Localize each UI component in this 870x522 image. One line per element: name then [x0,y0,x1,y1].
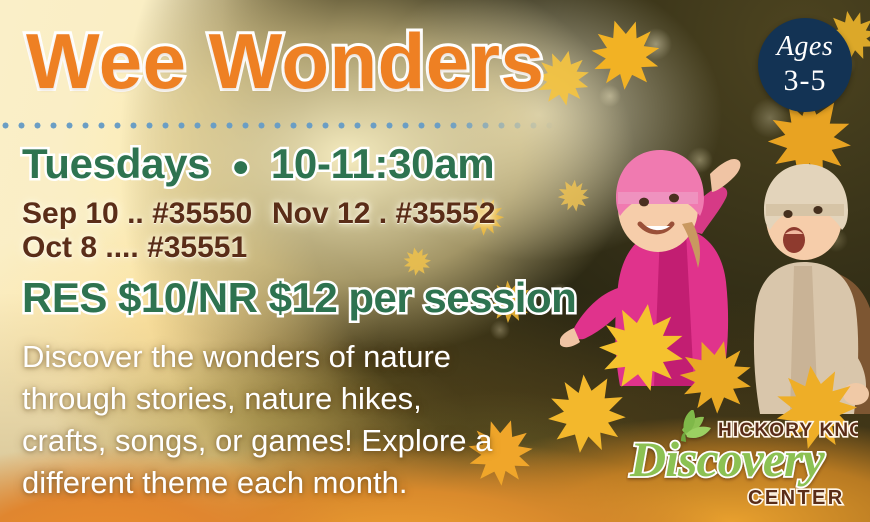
flyer-canvas: Wee Wonders Ages 3-5 Tuesdays ● 10-11:30… [0,0,870,522]
dotted-divider [0,120,556,131]
session-code: #35551 [147,231,247,264]
ages-badge-label: Ages [777,33,833,61]
logo-script-text: Discovery [629,431,825,487]
session-code: #35550 [152,197,252,230]
bullet-separator-icon: ● [232,150,250,183]
session-date: Oct 8 [22,231,97,264]
logo-bottom-text: CENTER [748,487,845,509]
schedule-time: 10-11:30am [271,140,495,187]
session-date: Nov 12 [272,197,370,230]
description-line: crafts, songs, or games! Explore a [22,420,552,462]
description-line: Discover the wonders of nature [22,336,552,378]
hickory-knolls-discovery-center-logo: HICKORY KNOLLS Discovery CENTER [626,410,858,514]
session-leader: .. [127,197,144,230]
description-line: through stories, nature hikes, [22,378,552,420]
flyer-content: Wee Wonders Ages 3-5 Tuesdays ● 10-11:30… [0,0,870,522]
schedule-day: Tuesdays [22,140,210,187]
description-line: different theme each month. [22,462,552,504]
session-code: #35552 [395,197,495,230]
schedule-line: Tuesdays ● 10-11:30am [22,140,494,191]
session-row: Sep 10 .. #35550 [22,197,252,231]
session-row: Oct 8 .... #35551 [22,231,247,265]
session-row: Nov 12 . #35552 [272,197,496,231]
ages-badge-range: 3-5 [784,65,827,97]
session-leader: .... [105,231,138,264]
ages-badge: Ages 3-5 [758,18,852,112]
page-title: Wee Wonders [26,18,544,104]
description-paragraph: Discover the wonders of nature through s… [22,336,552,504]
session-leader: . [379,197,387,230]
session-date: Sep 10 [22,197,119,230]
price-line: RES $10/NR $12 per session [22,274,576,322]
